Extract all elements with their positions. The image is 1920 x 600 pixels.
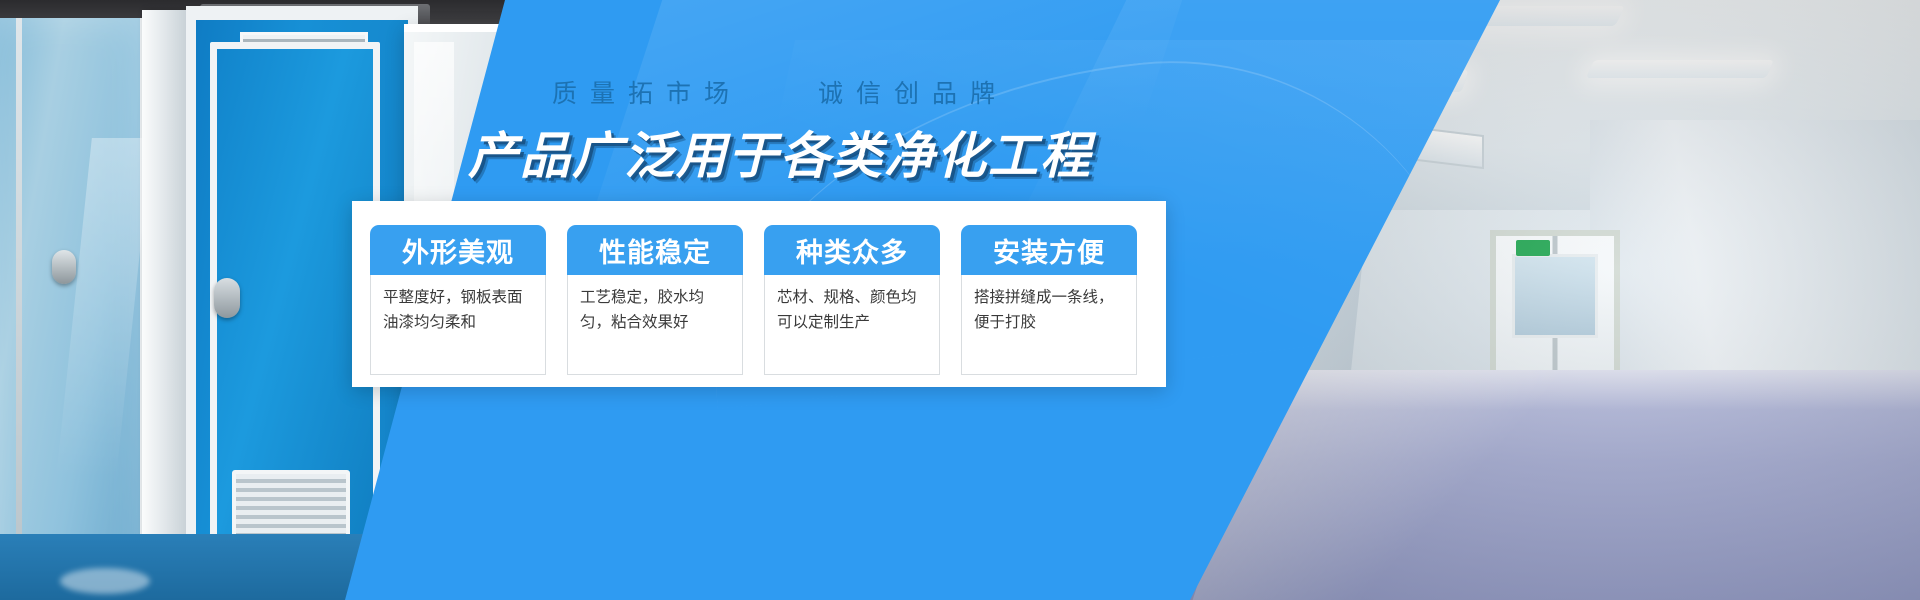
promo-banner: 质量拓市场 诚信创品牌 产品广泛用于各类净化工程 外形美观 平整度好，钢板表面油… [0, 0, 1920, 600]
feature-card-text: 平整度好，钢板表面油漆均匀柔和 [370, 275, 546, 375]
feature-card[interactable]: 性能稳定 工艺稳定，胶水均匀，粘合效果好 [567, 225, 743, 375]
glass-cabin-handle [52, 250, 76, 284]
cabin-frame-column [142, 10, 186, 578]
feature-card-text: 工艺稳定，胶水均匀，粘合效果好 [567, 275, 743, 375]
feature-card-title: 种类众多 [764, 225, 940, 275]
cabin-vent-grille [232, 470, 350, 542]
glass-cabin [0, 18, 150, 578]
feature-card[interactable]: 外形美观 平整度好，钢板表面油漆均匀柔和 [370, 225, 546, 375]
features-row: 外形美观 平整度好，钢板表面油漆均匀柔和 性能稳定 工艺稳定，胶水均匀，粘合效果… [370, 225, 1137, 375]
feature-card[interactable]: 安装方便 搭接拼缝成一条线，便于打胶 [961, 225, 1137, 375]
features-panel: 外形美观 平整度好，钢板表面油漆均匀柔和 性能稳定 工艺稳定，胶水均匀，粘合效果… [352, 201, 1166, 387]
cabin-door-handle [214, 278, 240, 318]
feature-card-text: 搭接拼缝成一条线，便于打胶 [961, 275, 1137, 375]
feature-card-title: 外形美观 [370, 225, 546, 275]
feature-card-title: 安装方便 [961, 225, 1137, 275]
feature-card-title: 性能稳定 [567, 225, 743, 275]
feature-card[interactable]: 种类众多 芯材、规格、颜色均可以定制生产 [764, 225, 940, 375]
feature-card-text: 芯材、规格、颜色均可以定制生产 [764, 275, 940, 375]
